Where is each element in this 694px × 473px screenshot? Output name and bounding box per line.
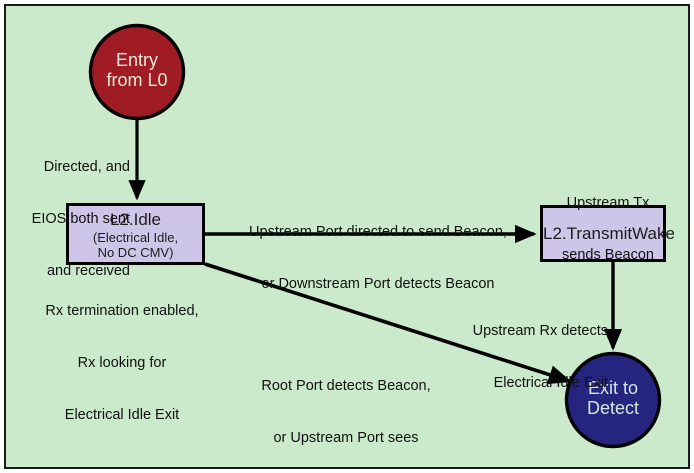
l2-transmitwake-title: L2.TransmitWake — [543, 225, 663, 244]
l2-idle-title: L2.Idle — [69, 211, 202, 230]
state-node-l2-transmitwake[interactable]: L2.TransmitWake — [540, 205, 666, 262]
l2-idle-sub-line2: No DC CMV) — [69, 245, 202, 260]
diagram-canvas: Entry from L0 Exit to Detect L2.Idle (El… — [0, 0, 694, 473]
l2-idle-sub-line1: (Electrical Idle, — [69, 230, 202, 245]
state-node-l2-idle[interactable]: L2.Idle (Electrical Idle, No DC CMV) — [66, 203, 205, 265]
